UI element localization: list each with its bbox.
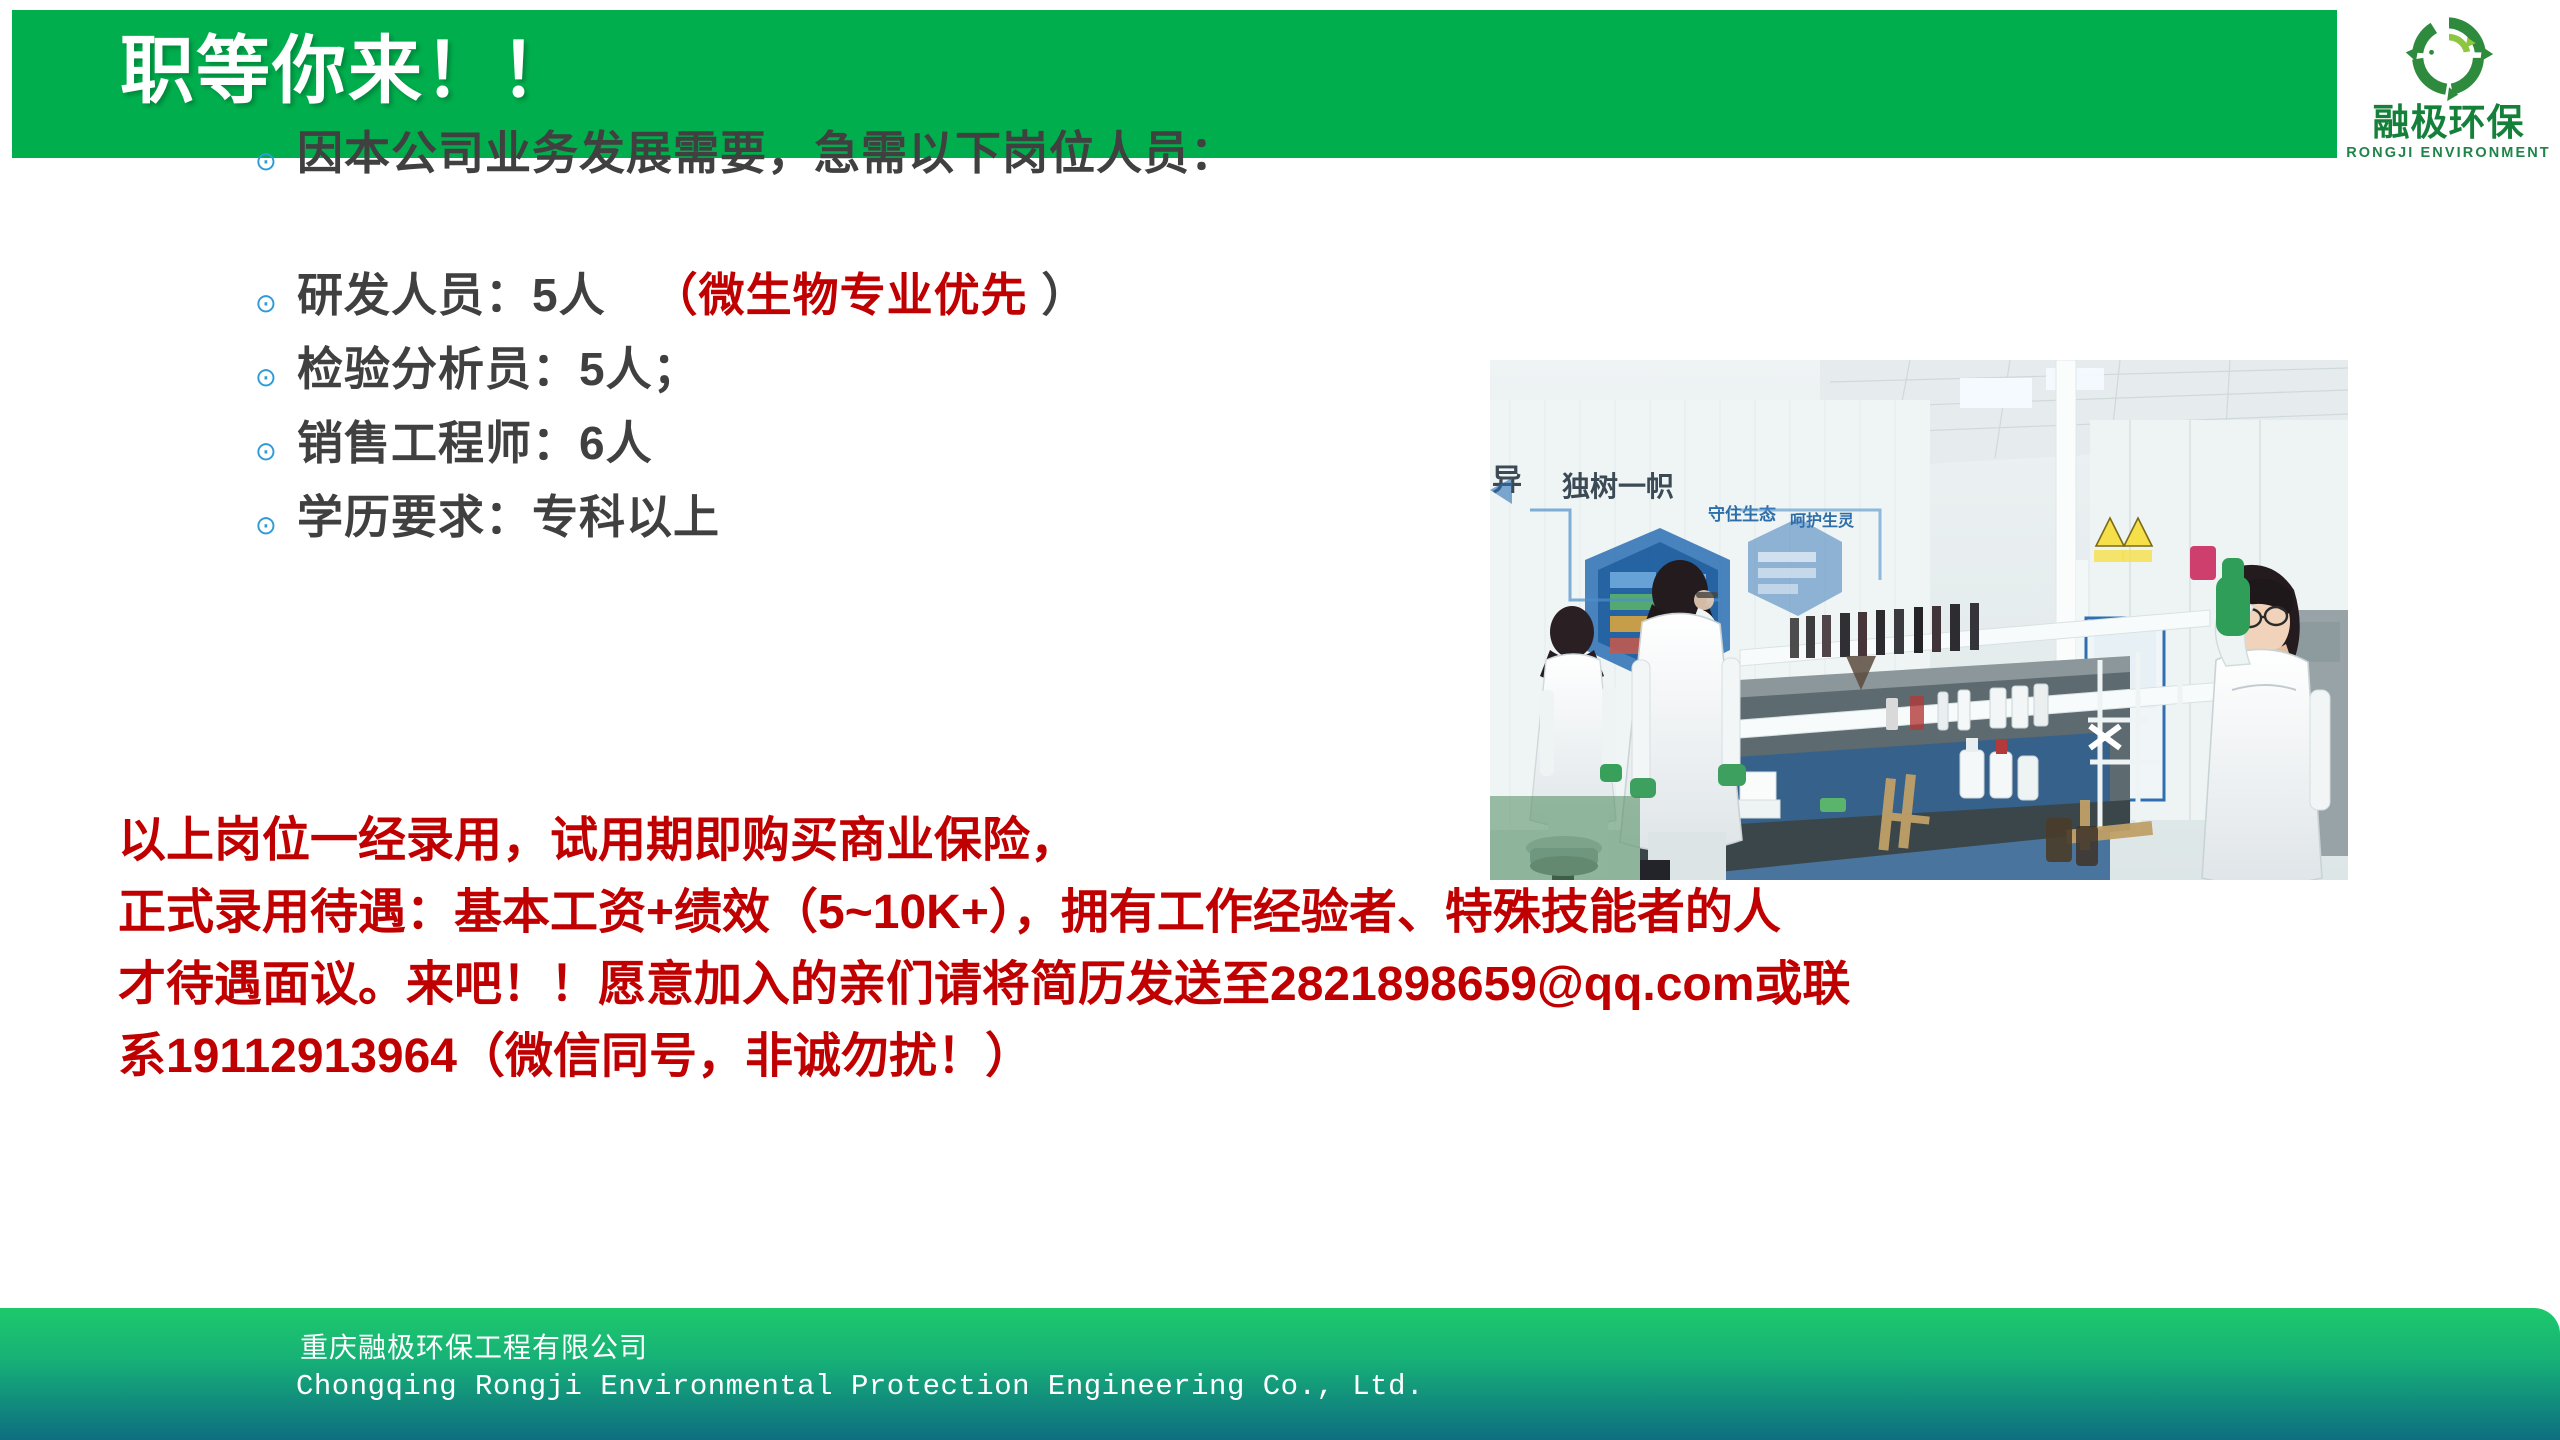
job-note-close: ） [1028, 269, 1089, 321]
offer-line-3: 才待遇面议。来吧！！愿意加入的亲们请将简历发送至2821898659@qq.co… [118, 949, 2518, 1021]
laboratory-team-photo: 异 独树一帜 守住生态 呵护生灵 [1490, 360, 2348, 880]
list-item-label: 销售工程师：6人 [297, 414, 653, 466]
list-item: ⊙ 因本公司业务发展需要，急需以下岗位人员： [255, 124, 1237, 200]
logo-name-cn: 融极环保 [2373, 104, 2525, 141]
list-item: ⊙ 学历要求：专科以上 [255, 488, 720, 564]
svg-text:独树一帜: 独树一帜 [1562, 471, 1674, 502]
offer-line-4: 系19112913964（微信同号，非诚勿扰！） [118, 1021, 2518, 1093]
job-note-rd: （微生物专业优先 [652, 269, 1028, 321]
bullet-circle-icon: ⊙ [255, 340, 297, 390]
list-item-label: 因本公司业务发展需要，急需以下岗位人员： [297, 124, 1237, 176]
list-item: ⊙ 研发人员：5人（微生物专业优先 ） [255, 266, 1088, 342]
list-item-label: 研发人员：5人（微生物专业优先 ） [297, 266, 1088, 318]
list-item-label: 学历要求：专科以上 [297, 488, 720, 540]
page-title: 职等你来！！ [120, 34, 576, 108]
bullet-circle-icon: ⊙ [255, 124, 297, 174]
bullet-circle-icon: ⊙ [255, 488, 297, 538]
logo-name-en: RONGJI ENVIRONMENT [2346, 146, 2551, 161]
offer-line-2: 正式录用待遇：基本工资+绩效（5~10K+），拥有工作经验者、特殊技能者的人 [118, 877, 2518, 949]
job-title-rd: 研发人员：5人 [297, 269, 606, 321]
recycling-circle-icon [2403, 10, 2495, 102]
list-item: ⊙ 检验分析员：5人； [255, 340, 700, 416]
offer-details-paragraph: 以上岗位一经录用，试用期即购买商业保险， 正式录用待遇：基本工资+绩效（5~10… [118, 805, 2518, 1093]
list-item-label: 检验分析员：5人； [297, 340, 700, 392]
company-logo: 融极环保 RONGJI ENVIRONMENT [2337, 4, 2560, 204]
slide-root: 职等你来！！ 融极环保 RONGJI ENVIRONMENT ⊙ 因本公司业务发 [0, 0, 2560, 1440]
footer-company-en: Chongqing Rongji Environmental Protectio… [296, 1370, 1424, 1403]
footer-bar: 重庆融极环保工程有限公司 Chongqing Rongji Environmen… [0, 1308, 2560, 1440]
bullet-circle-icon: ⊙ [255, 266, 297, 316]
offer-line-1: 以上岗位一经录用，试用期即购买商业保险， [118, 805, 2518, 877]
svg-text:守住生态: 守住生态 [1708, 504, 1776, 524]
footer-company-cn: 重庆融极环保工程有限公司 [300, 1326, 648, 1366]
list-item: ⊙ 销售工程师：6人 [255, 414, 653, 490]
bullet-circle-icon: ⊙ [255, 414, 297, 464]
